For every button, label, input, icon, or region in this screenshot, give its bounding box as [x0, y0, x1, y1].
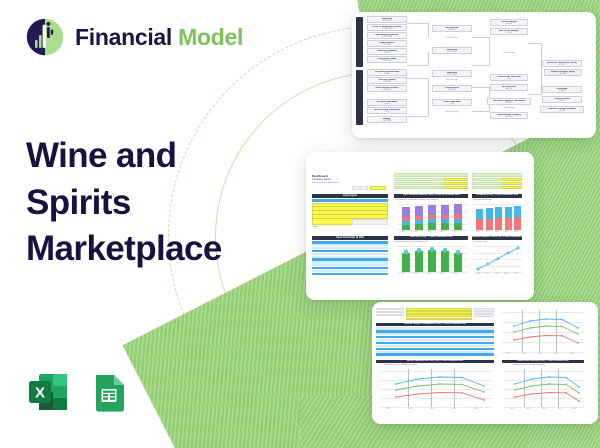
svg-text:X: X [35, 384, 45, 401]
refresh-button[interactable] [370, 186, 386, 190]
section-header-profitability: Profitability ($ 000) - 5 Years to Decem… [472, 194, 522, 198]
node-total-liabilities: Total Liabilities(770) [432, 99, 472, 106]
node-current-liabilities: Current Liabilities(445) [367, 99, 407, 106]
section-header-investment-payback: Investment Payback / Cash ($ 000) - 5 Ye… [472, 236, 522, 240]
node-return-on-total-assets: Return on Total Assets (ROA)43.9% [542, 60, 582, 67]
node-net-profit-margin: Net Profit Margin9.12% [490, 28, 528, 35]
chart-customer-balance [398, 204, 468, 230]
node-shareholders-equity: Shareholders Equity812,259 [490, 112, 528, 119]
chart-investment-payback [474, 246, 522, 272]
circle-bar-chart-logo-icon [26, 18, 64, 56]
headline-line-2: Spirits [26, 180, 296, 227]
node-accounts-receivable: Accounts Receivable8,985 [367, 69, 407, 76]
chart-revenue-margins-top [502, 310, 584, 352]
dashboard-subtitle: Company Name [312, 178, 331, 181]
section-header-projection-table: Revenue / Margins / Assumptions ($ 000) … [376, 323, 494, 326]
legend-chart-right: ■ Total Revenue ■ Gross Margin ■ Net Mar… [512, 365, 545, 366]
hero-content: Financial Model Wine and Spirits Marketp… [26, 18, 296, 430]
reset-button[interactable] [352, 186, 368, 190]
google-sheets-icon[interactable] [87, 370, 131, 414]
node-net-income: Net Income384,581 [432, 25, 472, 32]
brand-name-primary: Financial [75, 24, 172, 50]
node-current-ratio: Current Ratio14.08 [542, 96, 582, 103]
node-ar-turnover: AR Turnover469.20 [490, 84, 528, 91]
node-total-liab-equity: Total Liab + Equity = Total Assets876,02… [487, 98, 531, 105]
projections-screenshot: Revenue / Margins / Assumptions ($ 000) … [372, 302, 598, 424]
financial-dashboard-card[interactable]: Dashboard Company Name Wine and Spirits … [306, 152, 534, 300]
excel-icon[interactable]: X [26, 370, 70, 414]
node-current-assets: Current Assets642,884 [367, 77, 407, 84]
operator-multiplied-by-2: (Divided by) [490, 52, 528, 54]
chart-profitability [474, 204, 522, 230]
income-statement-band: Income Statement ($ 000) [356, 17, 363, 67]
dashboard-screenshot: Dashboard Company Name Wine and Spirits … [306, 152, 534, 300]
node-gross-margin: Gross Margin50.0% [490, 19, 528, 26]
node-leverage: Leverage1.08% [542, 86, 582, 93]
node-revenue-turnover: Revenue4,215,600 [432, 70, 472, 77]
operator-divided-by-3: (Divided by) [490, 107, 528, 109]
dupont-analysis-card[interactable]: Income Statement ($ 000) Balance Sheet (… [352, 12, 596, 138]
node-revenue-denominator: Revenue4,215,600 [432, 47, 472, 54]
dashboard-note: Wine and Spirits Marketplace [312, 182, 339, 184]
balance-sheet-band: Balance Sheet ($ 000) [356, 70, 363, 125]
section-header-customer-balance: Top 5 Customer Balance ($ 000) - 5 Years… [394, 194, 468, 198]
legend-customer-balance: ■ Customer A ■ Customer B ■ Customer C ■… [395, 199, 438, 201]
section-header-input-financials: Input Financials ($ 000) [312, 236, 388, 240]
node-operating-expenses: Operating Expenses(1,117,840) [367, 32, 407, 39]
node-interest-expense: Interest Expense(217) [367, 48, 407, 55]
operator-divided-by-2: (Divided by) [432, 79, 472, 81]
file-format-icons: X [26, 370, 131, 414]
chart-balance-bottom-right [504, 369, 584, 407]
node-return-on-equity: Return on Equity (ROE)47.3% [544, 69, 582, 76]
page-title: Wine and Spirits Marketplace [26, 133, 296, 273]
brand-name: Financial Model [75, 24, 243, 51]
brand-name-accent: Model [178, 24, 243, 50]
node-non-current-assets: Non-Current Assets233,145 [367, 85, 407, 92]
dupont-flowchart: Income Statement ($ 000) Balance Sheet (… [352, 12, 596, 138]
node-total-assets: Total Assets876,029 [432, 85, 472, 92]
legend-chart-left: ■ Total Revenue ■ Gross Margin ■ Net Mar… [384, 365, 417, 366]
node-total-asset-turnover: Total Asset Turnover4.81 [490, 74, 528, 81]
node-depreciation: Depreciation(1,188) [367, 40, 407, 47]
chart-profit-bottom-left [380, 369, 492, 407]
section-header-cash-flow: Cash Flow ($ 000) - 5 Years to December … [394, 236, 468, 240]
node-equity: Equity812,259 [367, 116, 407, 123]
legend-cash-flow: ■ Operating Cash Flow ■ Cumulative Cash [395, 241, 427, 243]
operator-divided-by-1: (Divided by) [432, 37, 472, 39]
section-header-cash-inputs: Cash Inputs [312, 194, 388, 198]
brand-lockup: Financial Model [26, 18, 296, 56]
section-header-chart-left: EBITDA / Operating / Net Profit ($ 000) … [376, 360, 494, 363]
legend-investment-payback: ■ Cumulative Cash [473, 241, 487, 243]
node-financial-leverage-multiplier: Financial Leverage Multiplier(0.12) [540, 106, 584, 113]
headline-line-1: Wine and [26, 133, 296, 180]
node-corporate-taxes: Corporate Taxes(112,213) [367, 56, 407, 63]
node-revenue: Revenue4,215,600 [367, 16, 407, 23]
chart-cash-flow [398, 246, 468, 272]
legend-profitability: ■ Revenue ■ Net Income [473, 199, 492, 201]
headline-line-3: Marketplace [26, 226, 296, 273]
operator-multiplied-by-1: (Multiplied by) [432, 111, 472, 113]
projections-card[interactable]: Revenue / Margins / Assumptions ($ 000) … [372, 302, 598, 424]
section-header-chart-right: Balance Sheet Summary ($ 000) - 5 Years … [502, 360, 584, 363]
node-cogs: Cost of Revenue (COGS)(2,108,340) [367, 24, 407, 31]
promo-banner: Financial Model Wine and Spirits Marketp… [0, 0, 600, 448]
node-non-current-liabilities: Non-Current Liabilities(325) [367, 107, 407, 114]
